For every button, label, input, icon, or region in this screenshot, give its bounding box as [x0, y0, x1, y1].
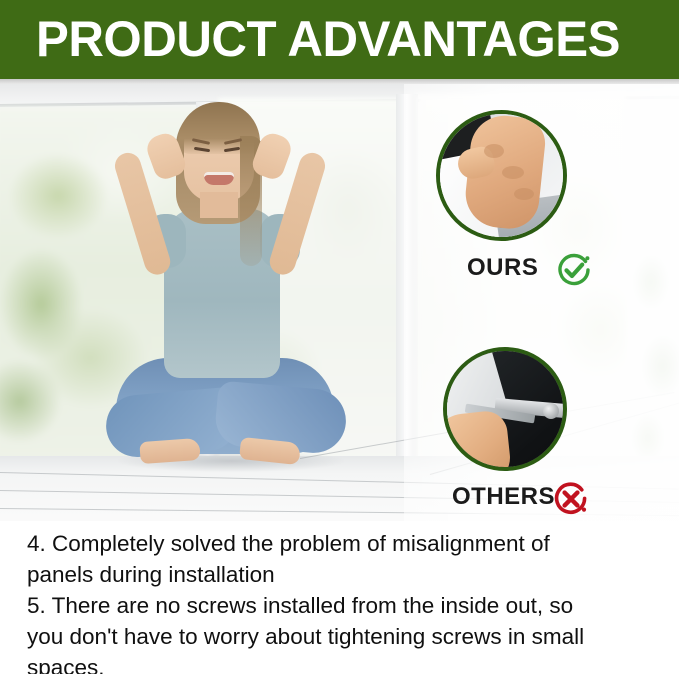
- advantage-line: you don't have to worry about tightening…: [27, 621, 652, 652]
- others-hand: [443, 409, 513, 471]
- advantage-line: 5. There are no screws installed from th…: [27, 590, 652, 621]
- neck: [200, 192, 238, 218]
- ours-label: OURS: [467, 254, 538, 282]
- mouth: [204, 172, 234, 185]
- product-advantages-page: PRODUCT ADVANTAGES: [0, 0, 679, 674]
- others-label: OTHERS: [452, 483, 555, 511]
- ours-knuckle: [502, 166, 524, 179]
- others-screw-head: [543, 403, 559, 419]
- ours-photo-circle: [436, 110, 567, 241]
- woman-figure: [88, 96, 348, 496]
- advantage-line: 4. Completely solved the problem of misa…: [27, 528, 652, 559]
- advantage-line: panels during installation: [27, 559, 652, 590]
- advantages-text-block: 4. Completely solved the problem of misa…: [27, 528, 652, 674]
- others-photo-circle: [443, 347, 567, 471]
- ours-knuckle: [484, 144, 504, 158]
- lifestyle-photo: [0, 84, 679, 521]
- advantage-line: spaces.: [27, 652, 652, 674]
- page-title: PRODUCT ADVANTAGES: [36, 11, 620, 68]
- header-banner: PRODUCT ADVANTAGES: [0, 0, 679, 79]
- cross-circle-icon: [551, 479, 591, 519]
- ours-knuckle: [514, 188, 534, 200]
- left-foot: [139, 438, 200, 464]
- check-circle-icon: [554, 250, 594, 290]
